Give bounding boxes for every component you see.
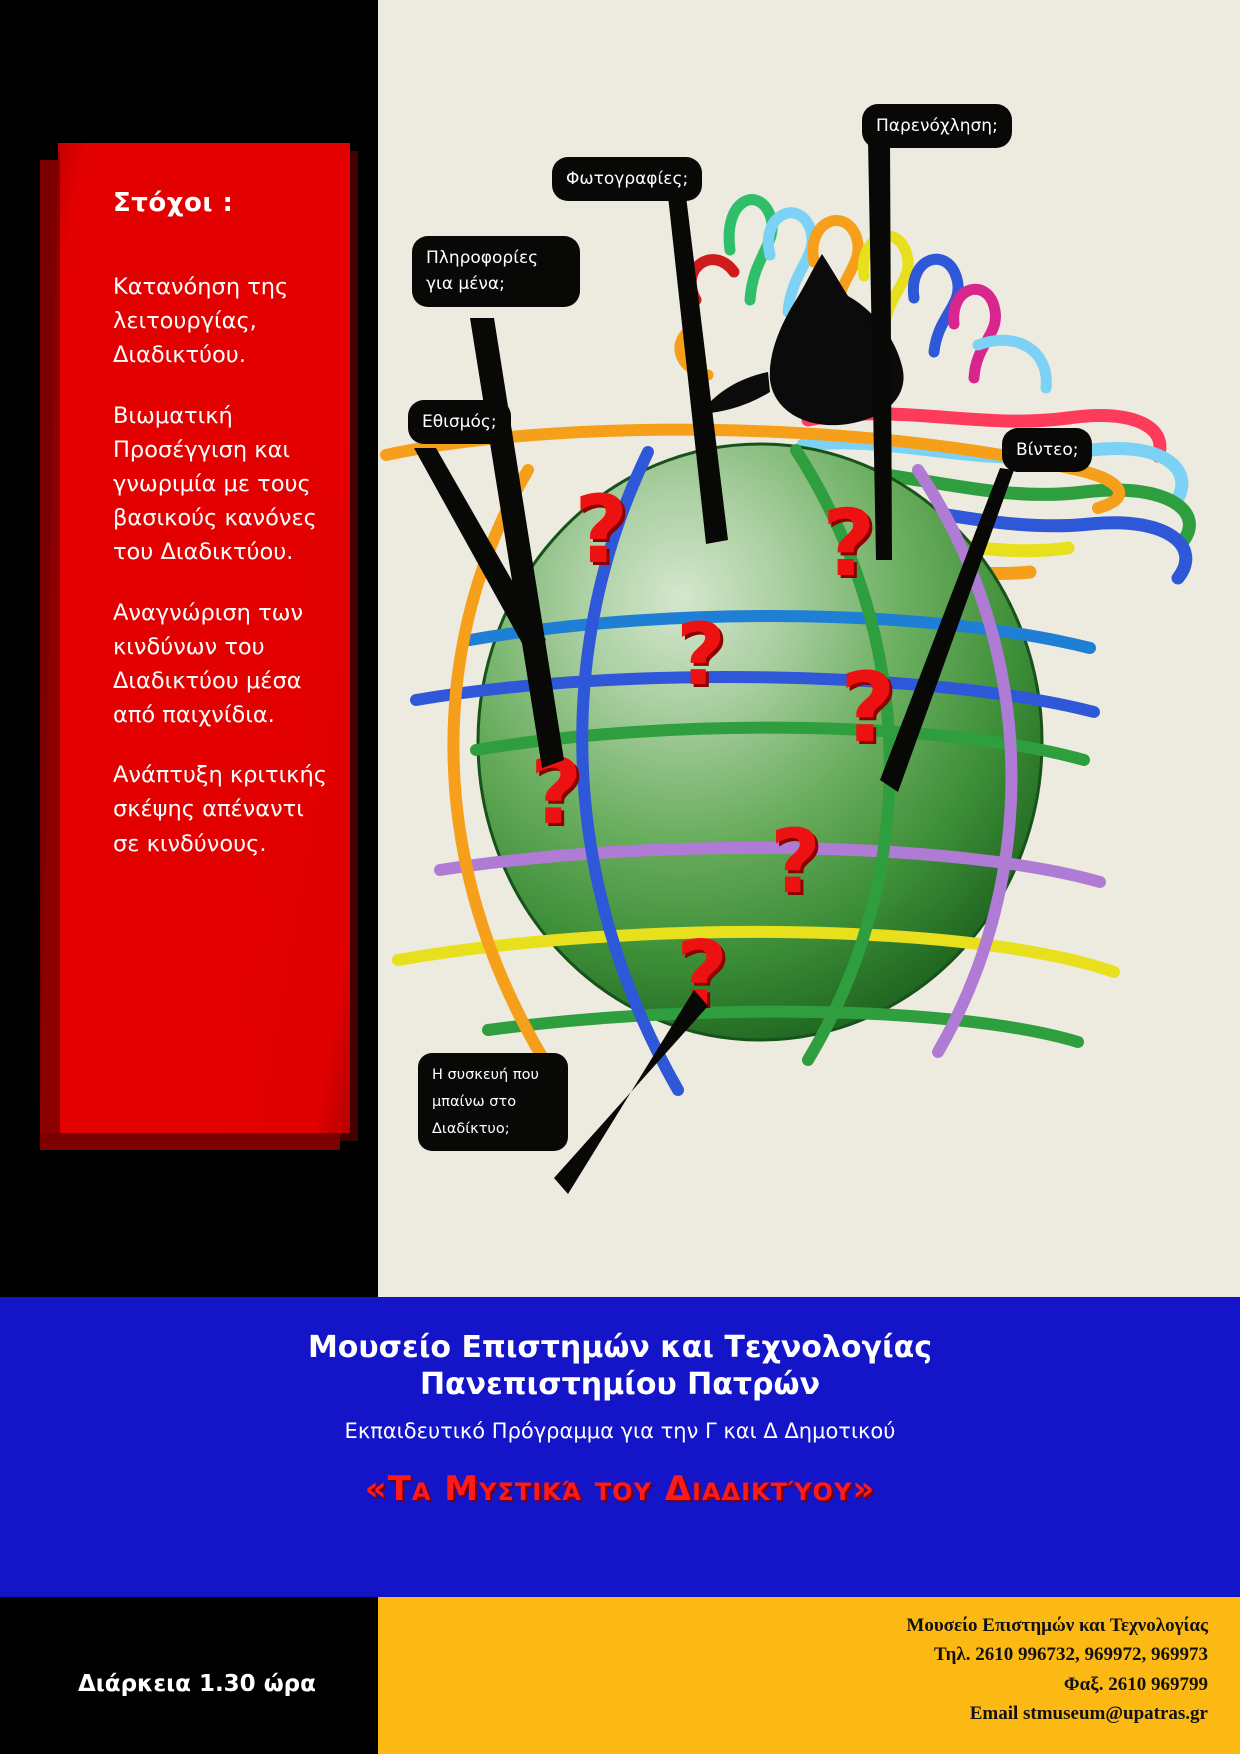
tail-harassment [868, 140, 892, 560]
contact-block: Μουσείο Επιστημών και Τεχνολογίας Τηλ. 2… [906, 1611, 1208, 1729]
contact-line-fax: Φαξ. 2610 969799 [906, 1670, 1208, 1699]
museum-name-line2: Πανεπιστημίου Πατρών [0, 1367, 1240, 1404]
poster-root: ? ? ? ? ? ? ? Παρενόχληση; Φωτογραφίες; … [0, 0, 1240, 1754]
museum-name-line1: Μουσείο Επιστημών και Τεχνολογίας [0, 1297, 1240, 1367]
goal-item-4: Ανάπτυξη κριτικής σκέψης απέναντι σε κιν… [113, 758, 332, 861]
poster-main-title: «Τα Μυστικά του Διαδικτύου» [0, 1469, 1240, 1509]
goals-box: Στόχοι : Κατανόηση της λειτουργίας, Διαδ… [58, 143, 350, 1133]
bubble-device[interactable]: Η συσκευή που μπαίνω στο Διαδίκτυο; [418, 1053, 568, 1151]
tail-device [554, 990, 708, 1194]
goal-item-3: Αναγνώριση των κινδύνων του Διαδικτύου μ… [113, 596, 332, 733]
bubble-addiction[interactable]: Εθισμός; [408, 400, 511, 444]
bubble-harassment[interactable]: Παρενόχληση; [862, 104, 1012, 148]
duration-label: Διάρκεια 1.30 ώρα [78, 1671, 316, 1697]
bubble-photos[interactable]: Φωτογραφίες; [552, 157, 702, 201]
bubble-video[interactable]: Βίντεο; [1002, 428, 1092, 472]
contact-line-email[interactable]: Email stmuseum@upatras.gr [906, 1699, 1208, 1728]
bubble-info-about-me[interactable]: Πληροφορίες για μένα; [412, 236, 580, 307]
contact-line-museum: Μουσείο Επιστημών και Τεχνολογίας [906, 1611, 1208, 1640]
tail-video [880, 468, 1014, 792]
tail-photos [668, 196, 728, 544]
goals-title: Στόχοι : [113, 188, 332, 218]
contact-band: Μουσείο Επιστημών και Τεχνολογίας Τηλ. 2… [378, 1597, 1240, 1754]
program-subtitle: Εκπαιδευτικό Πρόγραμμα για την Γ και Δ Δ… [0, 1419, 1240, 1443]
blue-footer-band: Μουσείο Επιστημών και Τεχνολογίας Πανεπι… [0, 1297, 1240, 1597]
goal-item-1: Κατανόηση της λειτουργίας, Διαδικτύου. [113, 270, 332, 373]
contact-line-phone: Τηλ. 2610 996732, 969972, 969973 [906, 1640, 1208, 1669]
goal-item-2: Βιωματική Προσέγγιση και γνωριμία με του… [113, 399, 332, 570]
